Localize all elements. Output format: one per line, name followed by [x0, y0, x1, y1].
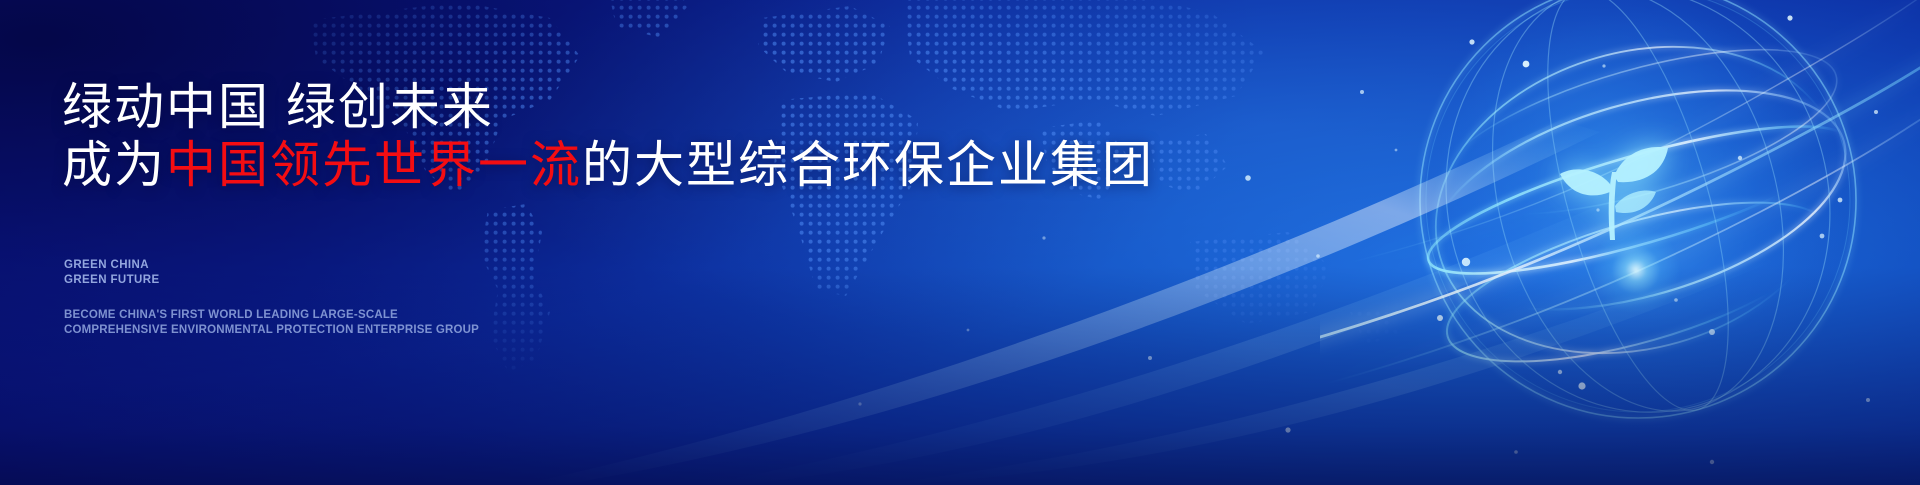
headline-line-1: 绿动中国 绿创未来: [62, 79, 494, 135]
claim-english: BECOME CHINA'S FIRST WORLD LEADING LARGE…: [64, 308, 479, 338]
headline-line-2-prefix: 成为: [62, 137, 166, 193]
headline-line-2-highlight: 中国领先世界一流: [166, 137, 582, 193]
headline-line-2: 成为中国领先世界一流的大型综合环保企业集团: [62, 136, 1154, 194]
claim-english-line-2: COMPREHENSIVE ENVIRONMENTAL PROTECTION E…: [64, 323, 479, 338]
subtitle-english: GREEN CHINA GREEN FUTURE: [64, 258, 160, 288]
claim-english-line-1: BECOME CHINA'S FIRST WORLD LEADING LARGE…: [64, 308, 479, 323]
hero-banner: 绿动中国 绿创未来 成为中国领先世界一流的大型综合环保企业集团 GREEN CH…: [0, 0, 1920, 485]
headline: 绿动中国 绿创未来 成为中国领先世界一流的大型综合环保企业集团: [62, 78, 1154, 194]
subtitle-english-line-2: GREEN FUTURE: [64, 273, 160, 288]
subtitle-english-line-1: GREEN CHINA: [64, 258, 160, 273]
banner-content: 绿动中国 绿创未来 成为中国领先世界一流的大型综合环保企业集团 GREEN CH…: [62, 0, 1062, 485]
headline-line-2-suffix: 的大型综合环保企业集团: [582, 137, 1154, 193]
